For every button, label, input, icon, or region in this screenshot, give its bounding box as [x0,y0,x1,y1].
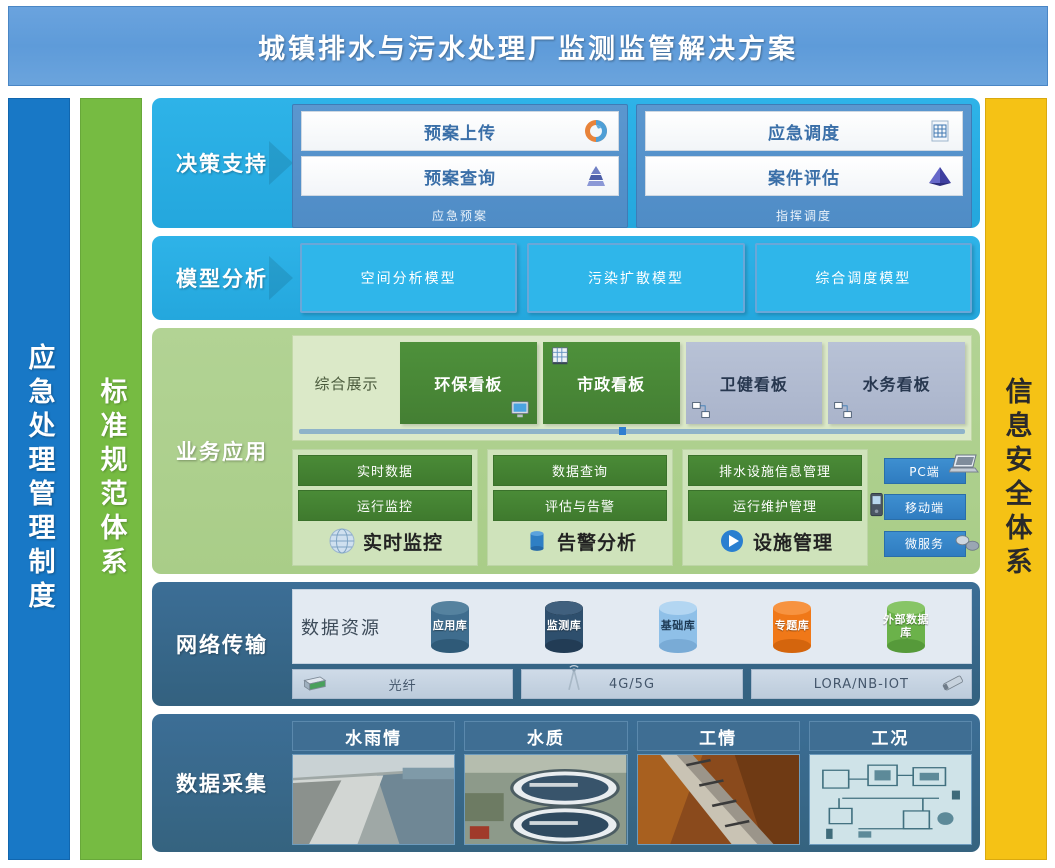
data-resources-label: 数据资源 [301,614,381,640]
decision-group-emergency-plan: 预案上传 预案查询 [292,104,628,228]
collection-card-water-rain[interactable]: 水雨情 [292,721,455,845]
database-label: 基础库 [661,620,696,632]
terminal-label: PC端 [909,463,940,480]
media-4g5g[interactable]: 4G/5G [521,669,742,699]
biz-feature-alarm-analysis[interactable]: 告警分析 [493,526,667,560]
database-label: 专题库 [775,620,810,632]
scada-diagram-photo [809,754,972,845]
decision-item-label: 案件评估 [768,164,840,189]
layer-label-business-application: 业务应用 [152,328,292,574]
model-card-label: 空间分析模型 [361,268,457,288]
biz-tag[interactable]: 运行维护管理 [688,490,862,521]
decision-item-plan-upload[interactable]: 预案上传 [301,111,619,151]
biz-feature-label: 实时监控 [363,528,443,555]
collection-label: 水雨情 [345,724,402,749]
biz-feature-label: 告警分析 [557,528,637,555]
decision-item-case-assessment[interactable]: 案件评估 [645,156,963,196]
grid-table-icon [927,118,953,144]
page-title: 城镇排水与污水处理厂监测监管解决方案 [258,27,798,66]
model-card-label: 综合调度模型 [815,268,911,288]
media-label: 4G/5G [609,677,655,692]
collection-label: 工况 [871,724,909,749]
database-external[interactable]: 外部数据库 [879,598,933,656]
biz-column-realtime: 实时数据 运行监控 实时监控 [292,449,478,566]
collection-card-operating-condition[interactable]: 工况 [809,721,972,845]
database-thematic[interactable]: 专题库 [765,598,819,656]
database-monitoring[interactable]: 监测库 [537,598,591,656]
rail-label: 信息安全体系 [997,377,1036,581]
decision-item-label: 预案上传 [424,119,496,144]
arrow-notch-icon [269,256,293,300]
layer-model-analysis: 模型分析 空间分析模型 污染扩散模型 综合调度模型 [152,236,980,320]
globe-icon [327,526,357,556]
sedimentation-tank-photo [464,754,627,845]
terminal-mobile[interactable]: 移动端 [884,494,966,520]
kanban-label: 水务看板 [863,371,931,395]
layer-business-application: 业务应用 综合展示 环保看板 [152,328,980,574]
model-card-integrated-dispatch[interactable]: 综合调度模型 [755,243,972,313]
mobile-phone-icon [869,492,885,518]
kanban-health[interactable]: 卫健看板 [686,342,823,424]
monitor-icon [509,398,531,420]
media-fiber[interactable]: 光纤 [292,669,513,699]
media-lora-nbiot[interactable]: LORA/NB-IOT [751,669,972,699]
collection-card-project-status[interactable]: 工情 [637,721,800,845]
kanban-label: 市政看板 [577,371,645,395]
database-label: 监测库 [547,620,582,632]
decision-item-label: 应急调度 [768,119,840,144]
arrow-notch-icon [269,141,293,185]
decision-group-caption: 应急预案 [301,207,619,227]
comprehensive-display-label: 综合展示 [299,342,394,424]
kanban-label: 环保看板 [434,371,502,395]
layer-label-network-transmission: 网络传输 [152,582,292,706]
rail-emergency-management-system: 应急处理管理制度 [8,98,70,860]
rail-label: 应急处理管理制度 [20,343,59,615]
fiber-device-icon [301,673,327,693]
database-label: 应用库 [433,620,468,632]
network-node-icon [691,400,711,420]
database-basic[interactable]: 基础库 [651,598,705,656]
collection-card-water-quality[interactable]: 水质 [464,721,627,845]
kanban-scrollbar[interactable] [299,429,965,434]
biz-tag[interactable]: 评估与告警 [493,490,667,521]
rail-information-security-system: 信息安全体系 [985,98,1047,860]
media-label: 光纤 [389,675,417,694]
terminal-microservice[interactable]: 微服务 [884,531,966,557]
layer-data-collection: 数据采集 水雨情 [152,714,980,852]
layer-label-decision-support: 决策支持 [152,98,292,228]
biz-column-facility: 排水设施信息管理 运行维护管理 设施管理 [682,449,868,566]
building-window-icon [549,345,571,367]
biz-tag[interactable]: 数据查询 [493,455,667,486]
biz-tag[interactable]: 实时数据 [298,455,472,486]
decision-item-emergency-dispatch[interactable]: 应急调度 [645,111,963,151]
laptop-icon [949,452,979,476]
terminal-label: 微服务 [905,535,944,552]
decision-group-caption: 指挥调度 [645,207,963,227]
pyramid-icon [927,163,953,189]
collection-label: 工情 [699,724,737,749]
decision-group-command-dispatch: 应急调度 案件评估 [636,104,972,228]
biz-column-query: 数据查询 评估与告警 告警分析 [487,449,673,566]
refresh-cycle-icon [583,118,609,144]
biz-tag[interactable]: 运行监控 [298,490,472,521]
decision-item-plan-query[interactable]: 预案查询 [301,156,619,196]
model-card-spatial-analysis[interactable]: 空间分析模型 [300,243,517,313]
kanban-municipal[interactable]: 市政看板 [543,342,680,424]
microservice-device-icon [953,533,981,553]
sensor-probe-icon [939,671,967,695]
rail-standards-specification-system: 标准规范体系 [80,98,142,860]
network-node-icon [833,400,853,420]
kanban-label: 卫健看板 [720,371,788,395]
kanban-environment[interactable]: 环保看板 [400,342,537,424]
collection-label: 水质 [527,724,565,749]
rail-label: 标准规范体系 [92,377,131,581]
biz-feature-realtime-monitoring[interactable]: 实时监控 [298,526,472,560]
terminal-pc[interactable]: PC端 [884,458,966,484]
biz-tag[interactable]: 排水设施信息管理 [688,455,862,486]
database-label: 外部数据库 [879,614,933,638]
comprehensive-display-section: 综合展示 环保看板 [292,335,972,441]
layer-label-data-collection: 数据采集 [152,714,292,852]
model-card-label: 污染扩散模型 [588,268,684,288]
terminal-label: 移动端 [905,499,944,516]
page-title-bar: 城镇排水与污水处理厂监测监管解决方案 [8,6,1048,86]
cone-chart-icon [583,163,609,189]
database-application[interactable]: 应用库 [423,598,477,656]
pipeline-trench-photo [637,754,800,845]
play-circle-icon [717,526,747,556]
kanban-water-affairs[interactable]: 水务看板 [828,342,965,424]
media-label: LORA/NB-IOT [814,677,909,692]
architecture-stack: 决策支持 预案上传 [152,98,980,852]
decision-item-label: 预案查询 [424,164,496,189]
layer-label-model-analysis: 模型分析 [152,236,292,320]
biz-feature-facility-management[interactable]: 设施管理 [688,526,862,560]
layer-network-transmission: 网络传输 数据资源 应用库 [152,582,980,706]
terminal-list: PC端 移动端 [877,449,972,566]
biz-feature-label: 设施管理 [753,528,833,555]
layer-decision-support: 决策支持 预案上传 [152,98,980,228]
model-card-pollution-diffusion[interactable]: 污染扩散模型 [527,243,744,313]
antenna-tower-icon [564,664,584,694]
database-icon [523,526,551,556]
river-channel-photo [292,754,455,845]
data-resources-section: 数据资源 应用库 [292,589,972,664]
